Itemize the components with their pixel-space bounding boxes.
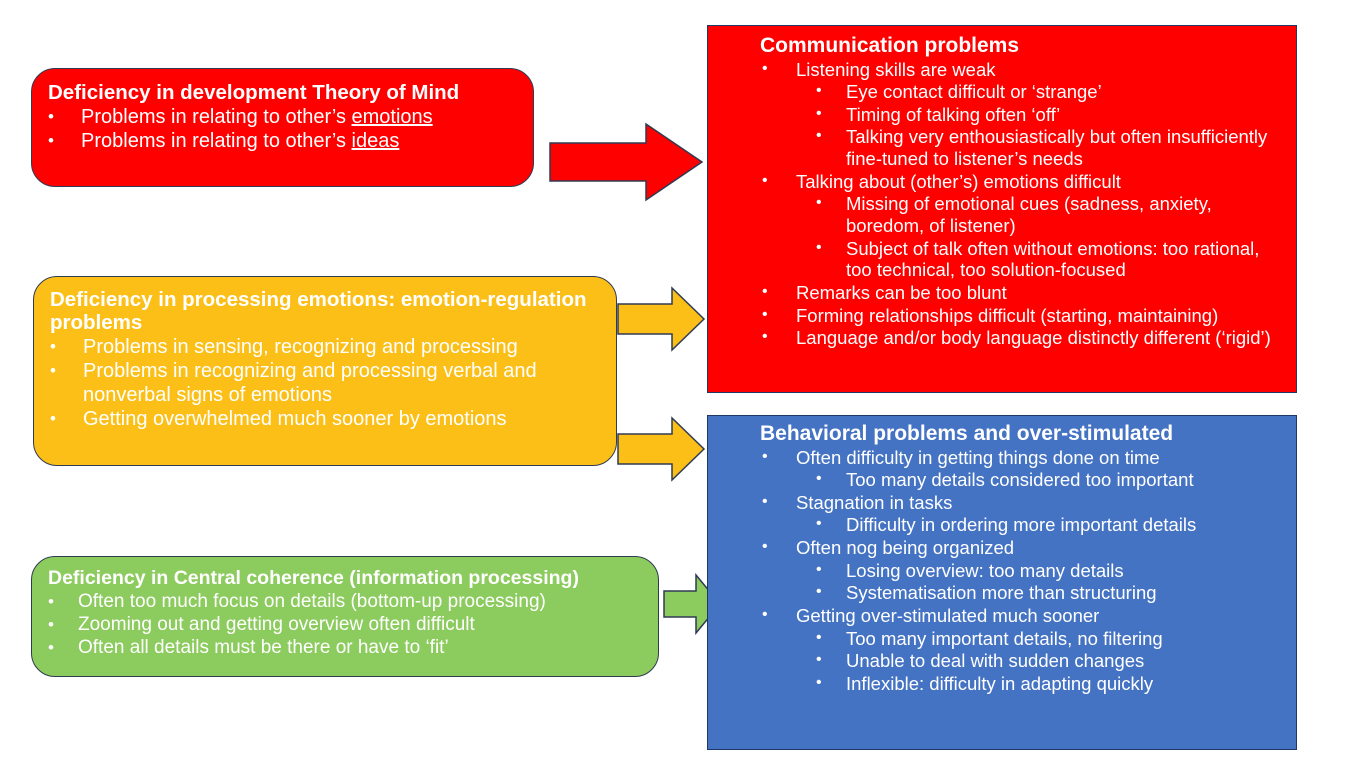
sub-list-item-label: Inflexible: difficulty in adapting quick… [846, 673, 1290, 695]
card-communication-problems[interactable]: Communication problems • Listening skill… [707, 25, 1297, 393]
sub-list-item-label: Systematisation more than structuring [846, 582, 1290, 604]
sub-list-item-label: Timing of talking often ‘off’ [846, 104, 1290, 126]
bullet-icon: • [762, 327, 768, 347]
arrow-emotion-to-communication [618, 288, 704, 350]
sub-list-item: • Timing of talking often ‘off’ [796, 104, 1290, 126]
list-item-label: Talking about (other’s) emotions difficu… [796, 171, 1290, 193]
bullet-icon: • [816, 628, 822, 648]
bullet-icon: • [762, 605, 768, 625]
list-item-label: Problems in recognizing and processing v… [83, 360, 600, 407]
sub-list-item: • Difficulty in ordering more important … [796, 514, 1290, 536]
sub-list-item-label: Difficulty in ordering more important de… [846, 514, 1290, 536]
slide-canvas: Deficiency in development Theory of Mind… [0, 0, 1366, 768]
bullet-icon: • [50, 408, 56, 430]
bullet-icon: • [816, 514, 822, 534]
list-item: • Listening skills are weak • Eye contac… [714, 59, 1290, 170]
sub-list-item-label: Subject of talk often without emotions: … [846, 238, 1290, 281]
communication-sublist: • Eye contact difficult or ‘strange’ • T… [796, 81, 1290, 170]
bullet-icon: • [762, 447, 768, 467]
card-central-coherence-list: • Often too much focus on details (botto… [48, 591, 642, 660]
list-item: • Problems in sensing, recognizing and p… [50, 336, 600, 359]
list-item: • Getting overwhelmed much sooner by emo… [50, 408, 600, 431]
sub-list-item-label: Too many details considered too importan… [846, 469, 1290, 491]
list-item-label: Often all details must be there or have … [78, 637, 642, 659]
sub-list-item-label: Losing overview: too many details [846, 560, 1290, 582]
sub-list-item: • Losing overview: too many details [796, 560, 1290, 582]
sub-list-item-label: Too many important details, no filtering [846, 628, 1290, 650]
bullet-icon: • [762, 305, 768, 325]
card-emotion-regulation-title: Deficiency in processing emotions: emoti… [50, 289, 600, 335]
card-emotion-regulation[interactable]: Deficiency in processing emotions: emoti… [33, 276, 617, 466]
list-item: • Language and/or body language distinct… [714, 327, 1290, 349]
communication-list: • Listening skills are weak • Eye contac… [714, 59, 1290, 349]
card-central-coherence-title: Deficiency in Central coherence (informa… [48, 568, 642, 590]
bullet-icon: • [816, 582, 822, 602]
list-item: • Talking about (other’s) emotions diffi… [714, 171, 1290, 281]
list-item: • Stagnation in tasks • Difficulty in or… [714, 492, 1290, 536]
sub-list-item: • Too many details considered too import… [796, 469, 1290, 491]
list-item-label: Often difficulty in getting things done … [796, 447, 1290, 469]
bullet-icon: • [816, 126, 822, 146]
underlined-term: ideas [352, 130, 400, 152]
sub-list-item-label: Eye contact difficult or ‘strange’ [846, 81, 1290, 103]
arrow-emotion-to-behavior [618, 418, 704, 480]
list-item: • Forming relationships difficult (start… [714, 305, 1290, 327]
list-item-label: Remarks can be too blunt [796, 282, 1290, 304]
card-emotion-regulation-list: • Problems in sensing, recognizing and p… [50, 336, 600, 432]
sub-list-item: • Eye contact difficult or ‘strange’ [796, 81, 1290, 103]
list-item: • Problems in relating to other’s emotio… [48, 106, 517, 129]
list-item-label: Problems in relating to other’s ideas [81, 130, 517, 153]
card-communication-problems-title: Communication problems [760, 34, 1290, 58]
list-item-label: Forming relationships difficult (startin… [796, 305, 1290, 327]
list-item: • Often all details must be there or hav… [48, 637, 642, 659]
arrow-tom-to-communication [550, 124, 702, 200]
bullet-icon: • [762, 492, 768, 512]
bullet-icon: • [50, 360, 56, 382]
list-item: • Problems in relating to other’s ideas [48, 130, 517, 153]
list-item-label: Problems in sensing, recognizing and pro… [83, 336, 600, 359]
behavior-sublist: • Difficulty in ordering more important … [796, 514, 1290, 536]
list-item-label: Listening skills are weak [796, 59, 1290, 81]
bullet-icon: • [816, 238, 822, 258]
list-item: • Zooming out and getting overview often… [48, 614, 642, 636]
list-item-label: Language and/or body language distinctly… [796, 327, 1290, 349]
card-theory-of-mind-title: Deficiency in development Theory of Mind [48, 82, 517, 105]
bullet-icon: • [762, 59, 768, 79]
list-item: • Often too much focus on details (botto… [48, 591, 642, 613]
bullet-icon: • [816, 469, 822, 489]
list-item-label: Problems in relating to other’s emotions [81, 106, 517, 129]
sub-list-item: • Too many important details, no filteri… [796, 628, 1290, 650]
bullet-icon: • [816, 193, 822, 213]
card-behavioral-problems-title: Behavioral problems and over-stimulated [760, 422, 1290, 446]
underlined-term: emotions [352, 106, 433, 128]
bullet-icon: • [48, 106, 54, 128]
sub-list-item: • Inflexible: difficulty in adapting qui… [796, 673, 1290, 695]
list-item: • Often difficulty in getting things don… [714, 447, 1290, 491]
bullet-icon: • [48, 614, 54, 636]
card-theory-of-mind[interactable]: Deficiency in development Theory of Mind… [31, 68, 534, 187]
bullet-icon: • [816, 673, 822, 693]
bullet-icon: • [816, 650, 822, 670]
card-theory-of-mind-list: • Problems in relating to other’s emotio… [48, 106, 517, 154]
bullet-icon: • [48, 130, 54, 152]
card-behavioral-problems[interactable]: Behavioral problems and over-stimulated … [707, 415, 1297, 750]
list-item-label: Often nog being organized [796, 537, 1290, 559]
bullet-icon: • [816, 104, 822, 124]
behavior-sublist: • Too many details considered too import… [796, 469, 1290, 491]
bullet-icon: • [816, 81, 822, 101]
bullet-icon: • [48, 591, 54, 613]
bullet-icon: • [762, 282, 768, 302]
communication-sublist: • Missing of emotional cues (sadness, an… [796, 193, 1290, 281]
list-item-label: Stagnation in tasks [796, 492, 1290, 514]
bullet-icon: • [762, 537, 768, 557]
card-central-coherence[interactable]: Deficiency in Central coherence (informa… [31, 556, 659, 677]
list-item-label: Getting over-stimulated much sooner [796, 605, 1290, 627]
behavior-sublist: • Too many important details, no filteri… [796, 628, 1290, 695]
list-item: • Remarks can be too blunt [714, 282, 1290, 304]
sub-list-item: • Systematisation more than structuring [796, 582, 1290, 604]
behavior-sublist: • Losing overview: too many details • Sy… [796, 560, 1290, 604]
list-item: • Often nog being organized • Losing ove… [714, 537, 1290, 604]
sub-list-item: • Talking very enthousiastically but oft… [796, 126, 1290, 169]
bullet-icon: • [762, 171, 768, 191]
bullet-icon: • [50, 336, 56, 358]
sub-list-item: • Subject of talk often without emotions… [796, 238, 1290, 281]
sub-list-item-label: Talking very enthousiastically but often… [846, 126, 1290, 169]
sub-list-item: • Missing of emotional cues (sadness, an… [796, 193, 1290, 236]
list-item: • Getting over-stimulated much sooner • … [714, 605, 1290, 695]
sub-list-item-label: Missing of emotional cues (sadness, anxi… [846, 193, 1290, 236]
bullet-icon: • [48, 637, 54, 659]
list-item: • Problems in recognizing and processing… [50, 360, 600, 407]
bullet-icon: • [816, 560, 822, 580]
list-item-label: Getting overwhelmed much sooner by emoti… [83, 408, 600, 431]
sub-list-item-label: Unable to deal with sudden changes [846, 650, 1290, 672]
list-item-label: Zooming out and getting overview often d… [78, 614, 642, 636]
sub-list-item: • Unable to deal with sudden changes [796, 650, 1290, 672]
list-item-label: Often too much focus on details (bottom-… [78, 591, 642, 613]
behavior-list: • Often difficulty in getting things don… [714, 447, 1290, 695]
